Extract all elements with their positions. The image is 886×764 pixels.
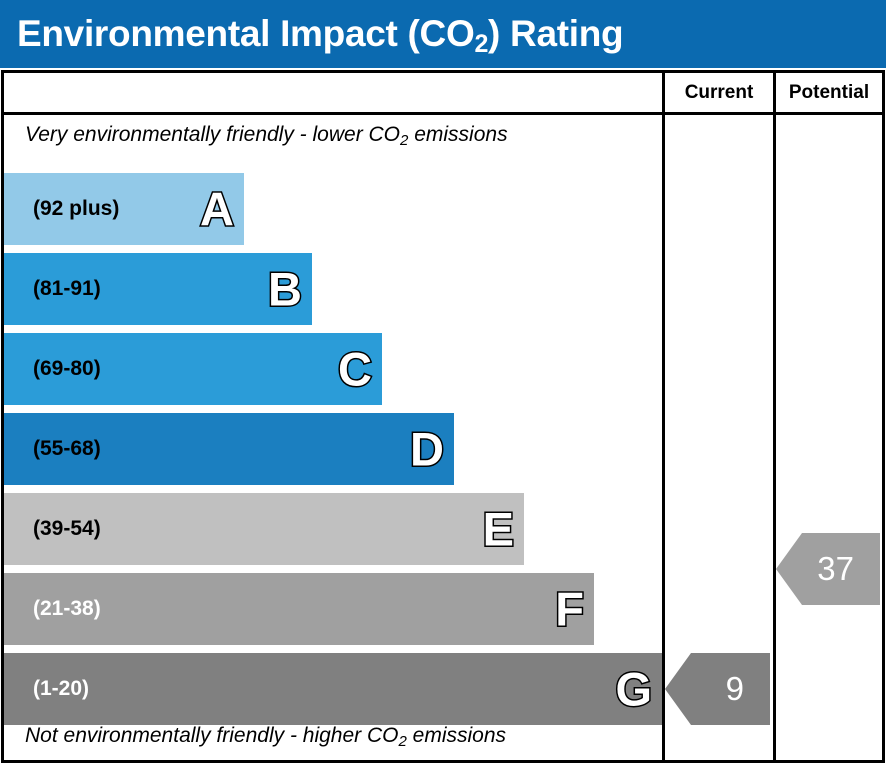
- note-bottom-prefix: Not environmentally friendly - higher CO: [25, 724, 399, 747]
- potential-rating-arrow: 37: [776, 533, 880, 605]
- band-range-e: (39-54): [4, 517, 101, 541]
- band-letter-d: D: [410, 426, 444, 473]
- page-title: Environmental Impact (CO2) Rating: [0, 13, 623, 55]
- band-range-a: (92 plus): [4, 197, 119, 221]
- band-letter-g: G: [615, 666, 652, 713]
- band-row-c: (69-80) C: [4, 333, 382, 405]
- page-title-prefix: Environmental Impact (CO: [17, 13, 474, 54]
- band-row-d: (55-68) D: [4, 413, 454, 485]
- table-header-row: Current Potential: [4, 73, 882, 115]
- band-letter-b: B: [268, 266, 302, 313]
- band-row-f: (21-38) F: [4, 573, 594, 645]
- column-header-current: Current: [662, 73, 773, 112]
- column-divider-current: [662, 115, 665, 763]
- column-header-potential: Potential: [773, 73, 882, 112]
- band-range-d: (55-68): [4, 437, 101, 461]
- band-row-e: (39-54) E: [4, 493, 524, 565]
- page-title-subscript: 2: [474, 30, 488, 58]
- chart-header-bar: Environmental Impact (CO2) Rating: [0, 0, 886, 68]
- band-row-a: (92 plus) A: [4, 173, 244, 245]
- band-letter-a: A: [200, 186, 234, 233]
- band-letter-f: F: [555, 586, 584, 633]
- note-top-prefix: Very environmentally friendly - lower CO: [25, 123, 400, 146]
- band-chart-area: Very environmentally friendly - lower CO…: [4, 115, 662, 763]
- column-divider-potential: [773, 115, 776, 763]
- band-range-b: (81-91): [4, 277, 101, 301]
- note-very-friendly: Very environmentally friendly - lower CO…: [25, 123, 508, 147]
- note-top-suffix: emissions: [408, 123, 507, 146]
- page-title-suffix: ) Rating: [488, 13, 623, 54]
- band-row-b: (81-91) B: [4, 253, 312, 325]
- note-bottom-subscript: 2: [399, 733, 407, 750]
- band-range-f: (21-38): [4, 597, 101, 621]
- current-rating-arrow: 9: [665, 653, 770, 725]
- rating-table: Current Potential Very environmentally f…: [1, 70, 885, 763]
- band-row-g: (1-20) G: [4, 653, 662, 725]
- potential-rating-value: 37: [817, 550, 880, 588]
- note-top-subscript: 2: [400, 132, 408, 149]
- band-range-g: (1-20): [4, 677, 89, 701]
- current-rating-value: 9: [726, 670, 770, 708]
- band-range-c: (69-80): [4, 357, 101, 381]
- note-not-friendly: Not environmentally friendly - higher CO…: [25, 724, 506, 748]
- band-letter-c: C: [338, 346, 372, 393]
- note-bottom-suffix: emissions: [407, 724, 506, 747]
- band-letter-e: E: [483, 506, 514, 553]
- epc-environmental-impact-chart: Environmental Impact (CO2) Rating Curren…: [0, 0, 886, 764]
